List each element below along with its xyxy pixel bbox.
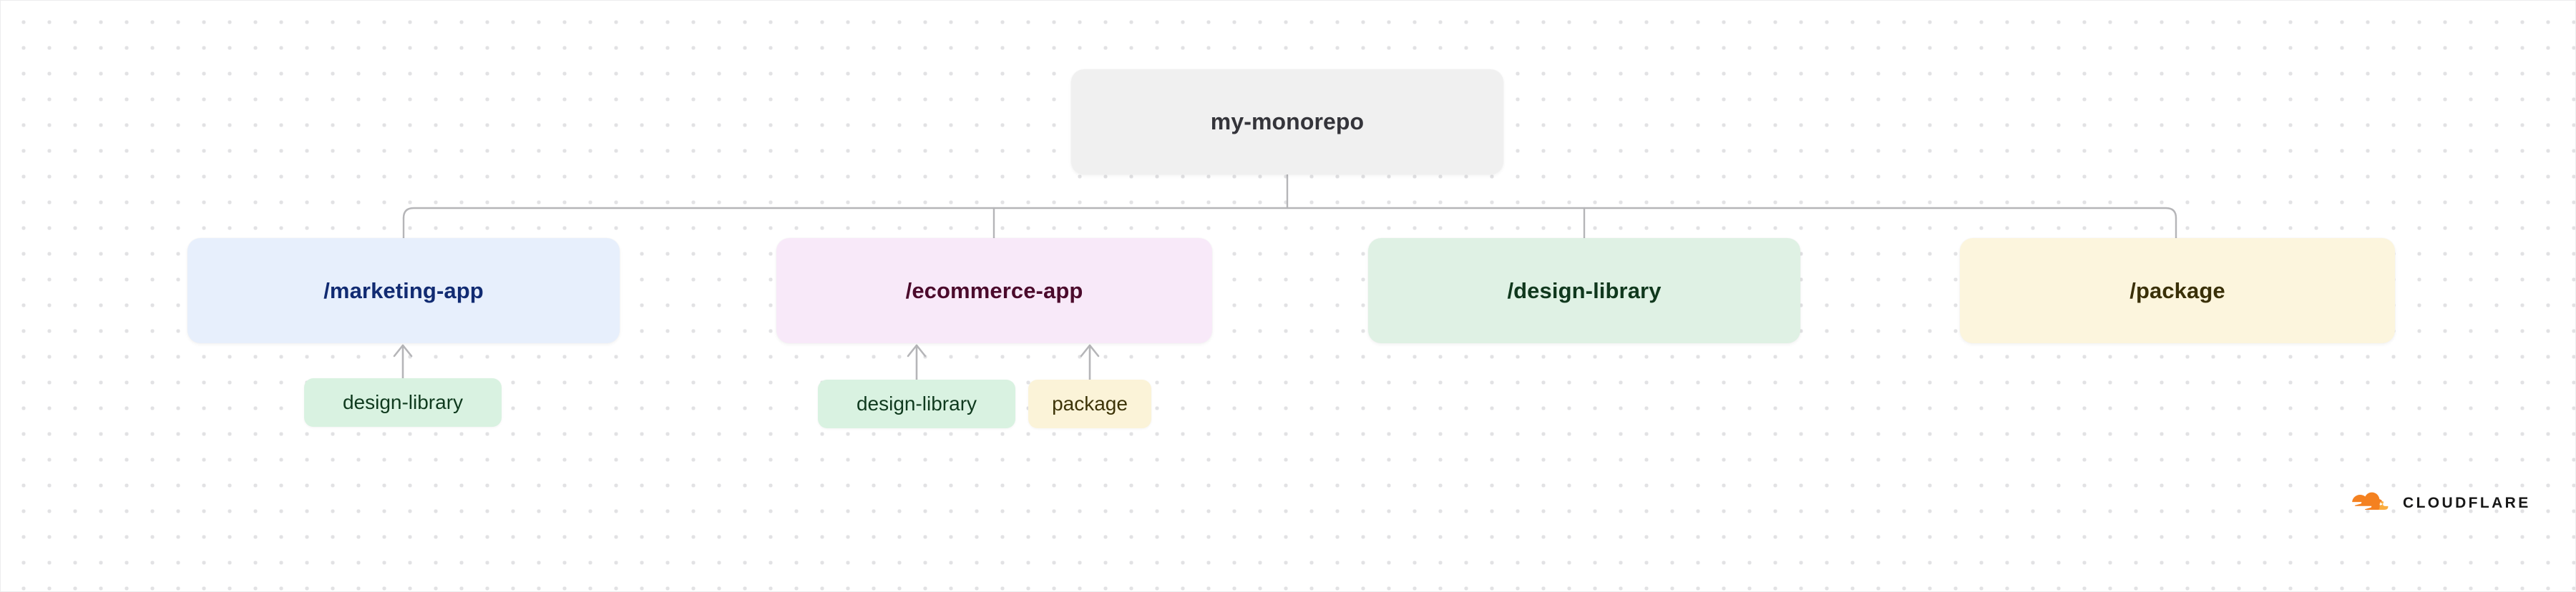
diagram-canvas: my-monorepo /marketing-app /ecommerce-ap…	[0, 0, 2576, 592]
dependency-pill-design-library-ecommerce[interactable]: design-library	[818, 380, 1015, 428]
cloudflare-cloud-icon	[2348, 492, 2394, 513]
node-marketing-app[interactable]: /marketing-app	[187, 238, 620, 343]
arrow-ecommerce-package-head	[1081, 345, 1098, 356]
arrow-marketing-designlibrary-head	[394, 345, 411, 356]
node-label-package: /package	[2129, 278, 2225, 304]
connector-bus	[404, 208, 2176, 218]
node-package[interactable]: /package	[1960, 238, 2395, 343]
cloudflare-logo: CLOUDFLARE	[2348, 492, 2531, 513]
node-label-design-library: /design-library	[1507, 278, 1661, 304]
node-my-monorepo[interactable]: my-monorepo	[1071, 69, 1503, 174]
dependency-pill-label: design-library	[343, 391, 463, 414]
node-label-my-monorepo: my-monorepo	[1211, 109, 1364, 135]
cloudflare-wordmark: CLOUDFLARE	[2403, 495, 2531, 510]
arrow-ecommerce-designlibrary-head	[908, 345, 925, 356]
dependency-pill-package-ecommerce[interactable]: package	[1028, 380, 1151, 428]
node-label-marketing-app: /marketing-app	[323, 278, 484, 304]
dependency-pill-design-library-marketing[interactable]: design-library	[304, 378, 502, 427]
node-design-library[interactable]: /design-library	[1368, 238, 1800, 343]
node-ecommerce-app[interactable]: /ecommerce-app	[776, 238, 1212, 343]
node-label-ecommerce-app: /ecommerce-app	[906, 278, 1083, 304]
dependency-pill-label: package	[1052, 393, 1128, 415]
dependency-pill-label: design-library	[857, 393, 977, 415]
